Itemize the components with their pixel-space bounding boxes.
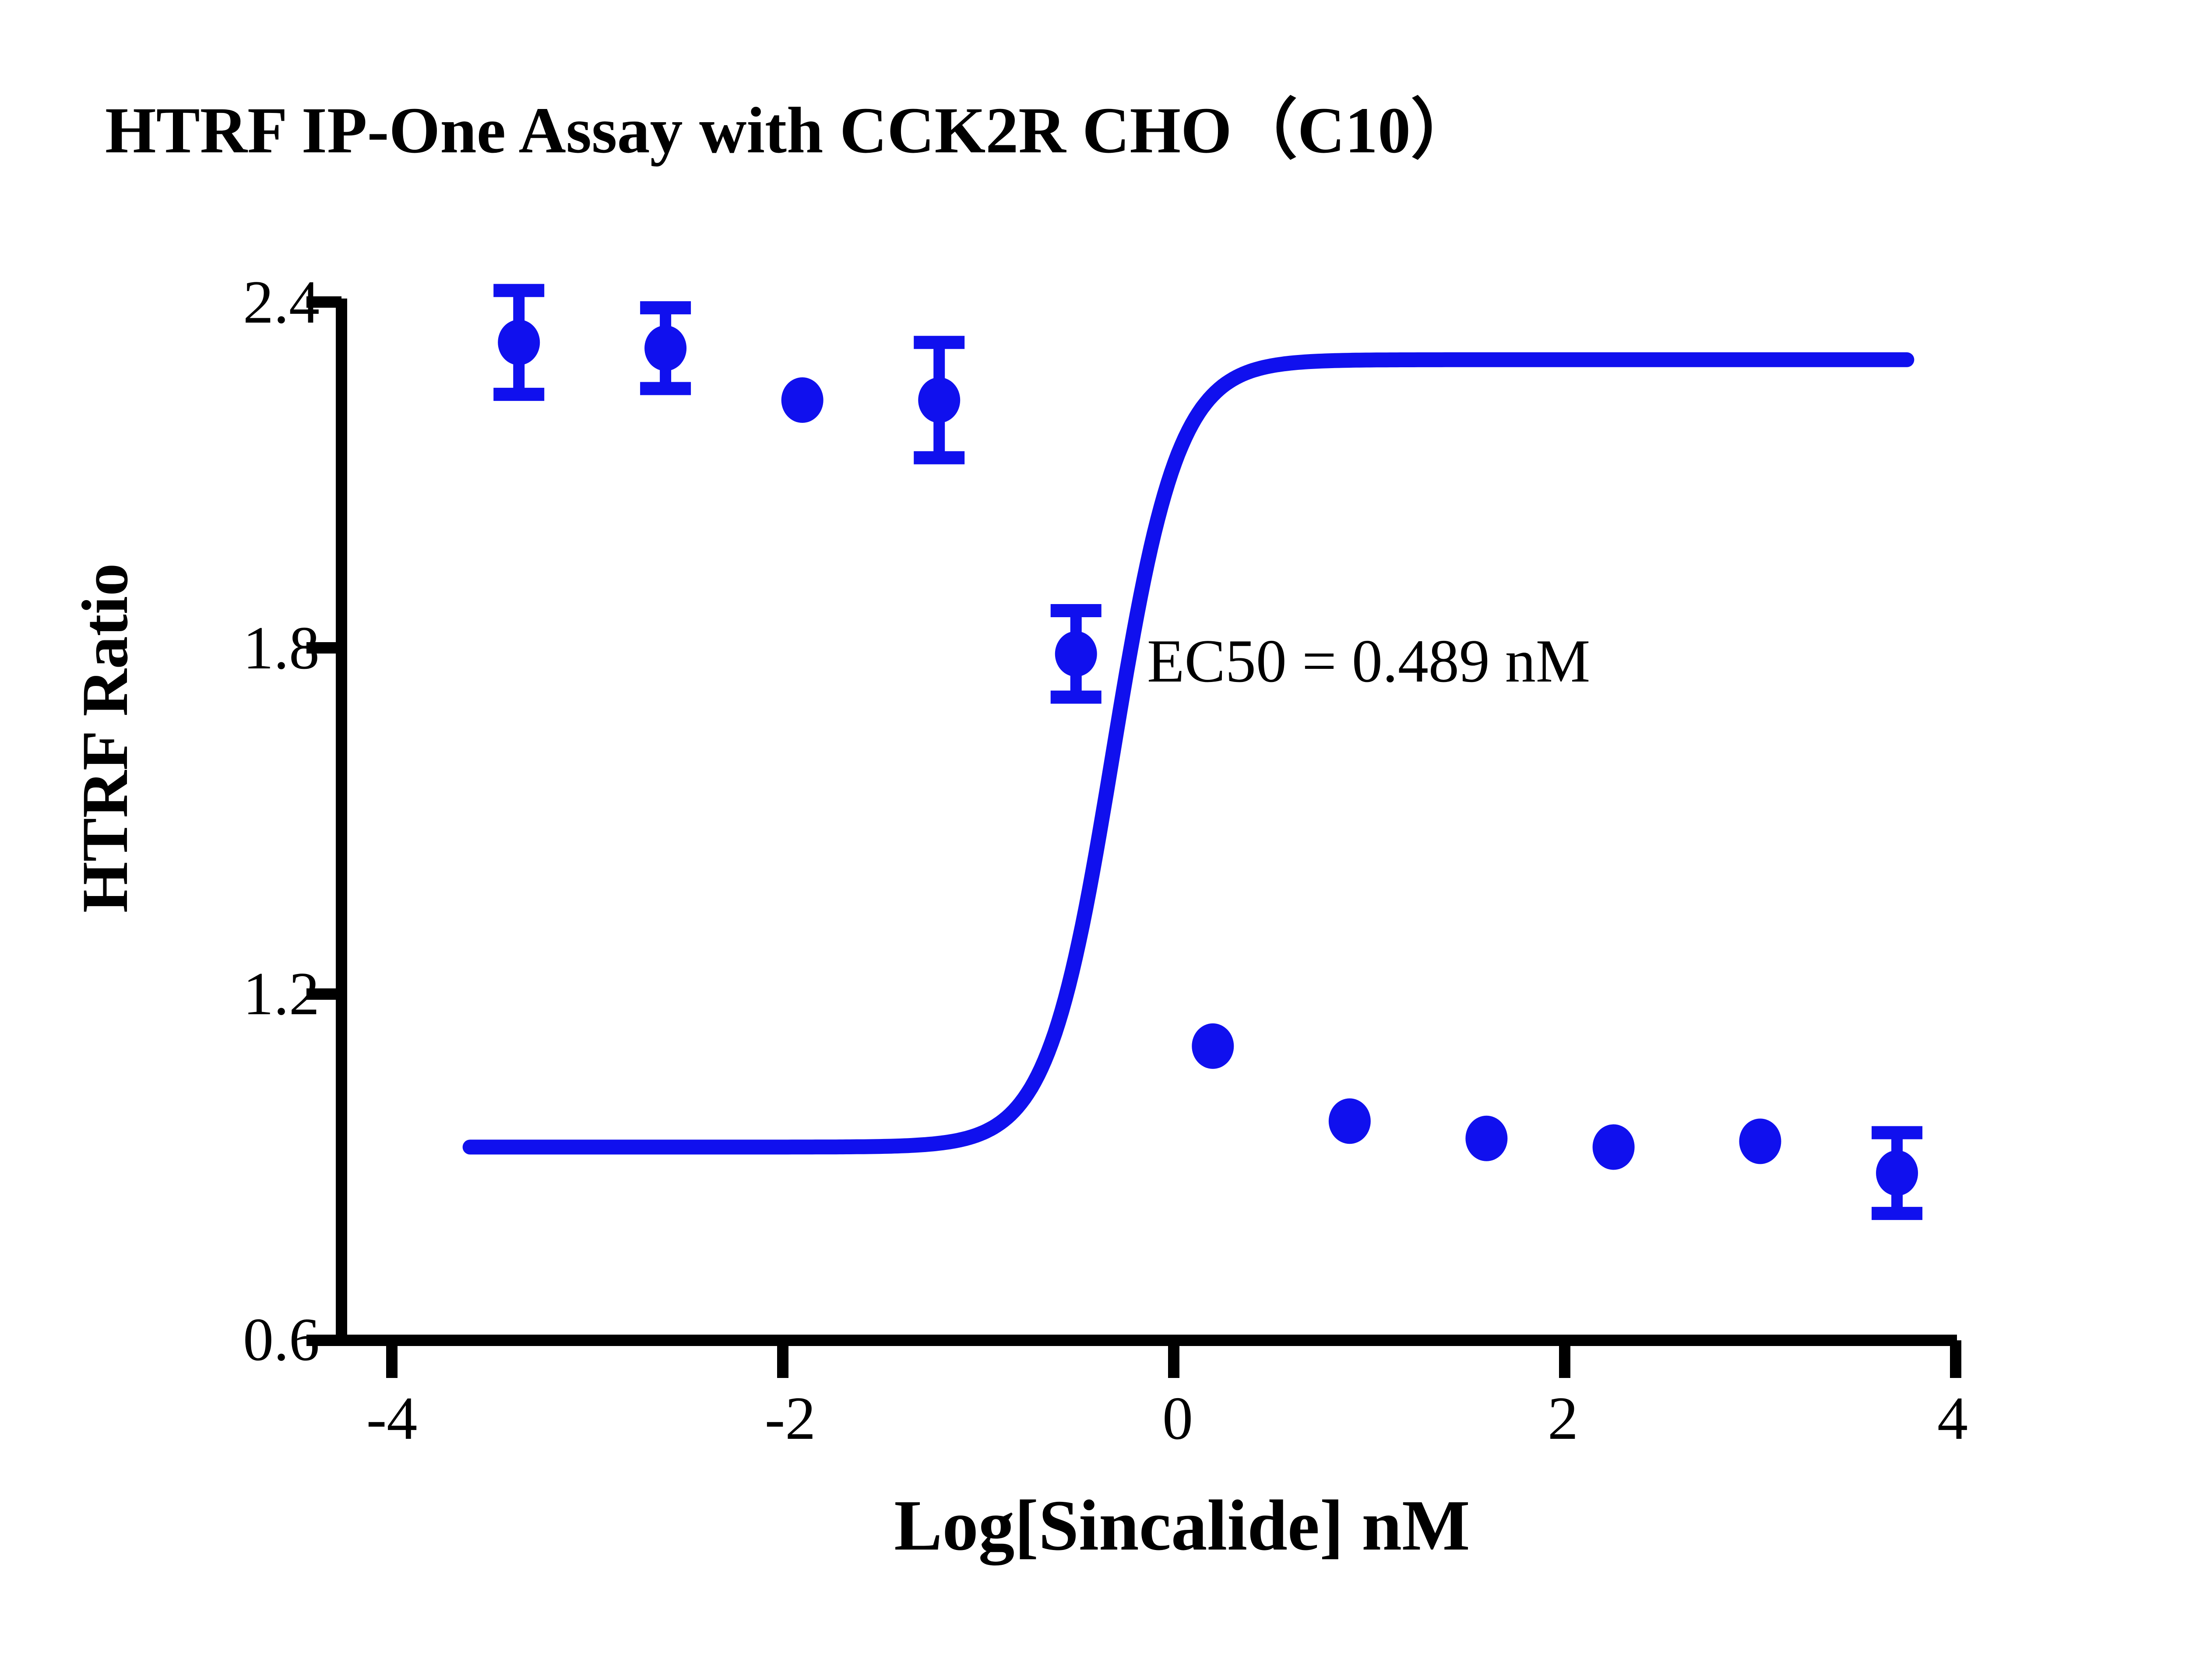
data-point	[781, 377, 824, 423]
data-point	[1329, 1098, 1371, 1144]
data-point	[644, 325, 686, 371]
fit-curve	[470, 360, 1907, 1147]
chart-canvas: HTRF IP-One Assay with CCK2R CHO（C10） HT…	[0, 0, 2189, 1680]
data-point	[1876, 1150, 1918, 1196]
data-point	[498, 320, 540, 365]
data-point	[1739, 1118, 1781, 1164]
data-series-layer	[470, 291, 1922, 1213]
plot-area	[0, 0, 2189, 1680]
data-point	[918, 377, 960, 423]
data-point	[1192, 1023, 1234, 1069]
axes	[306, 299, 1957, 1378]
data-point	[1593, 1125, 1635, 1170]
data-point	[1055, 631, 1097, 677]
data-point	[1465, 1116, 1507, 1161]
